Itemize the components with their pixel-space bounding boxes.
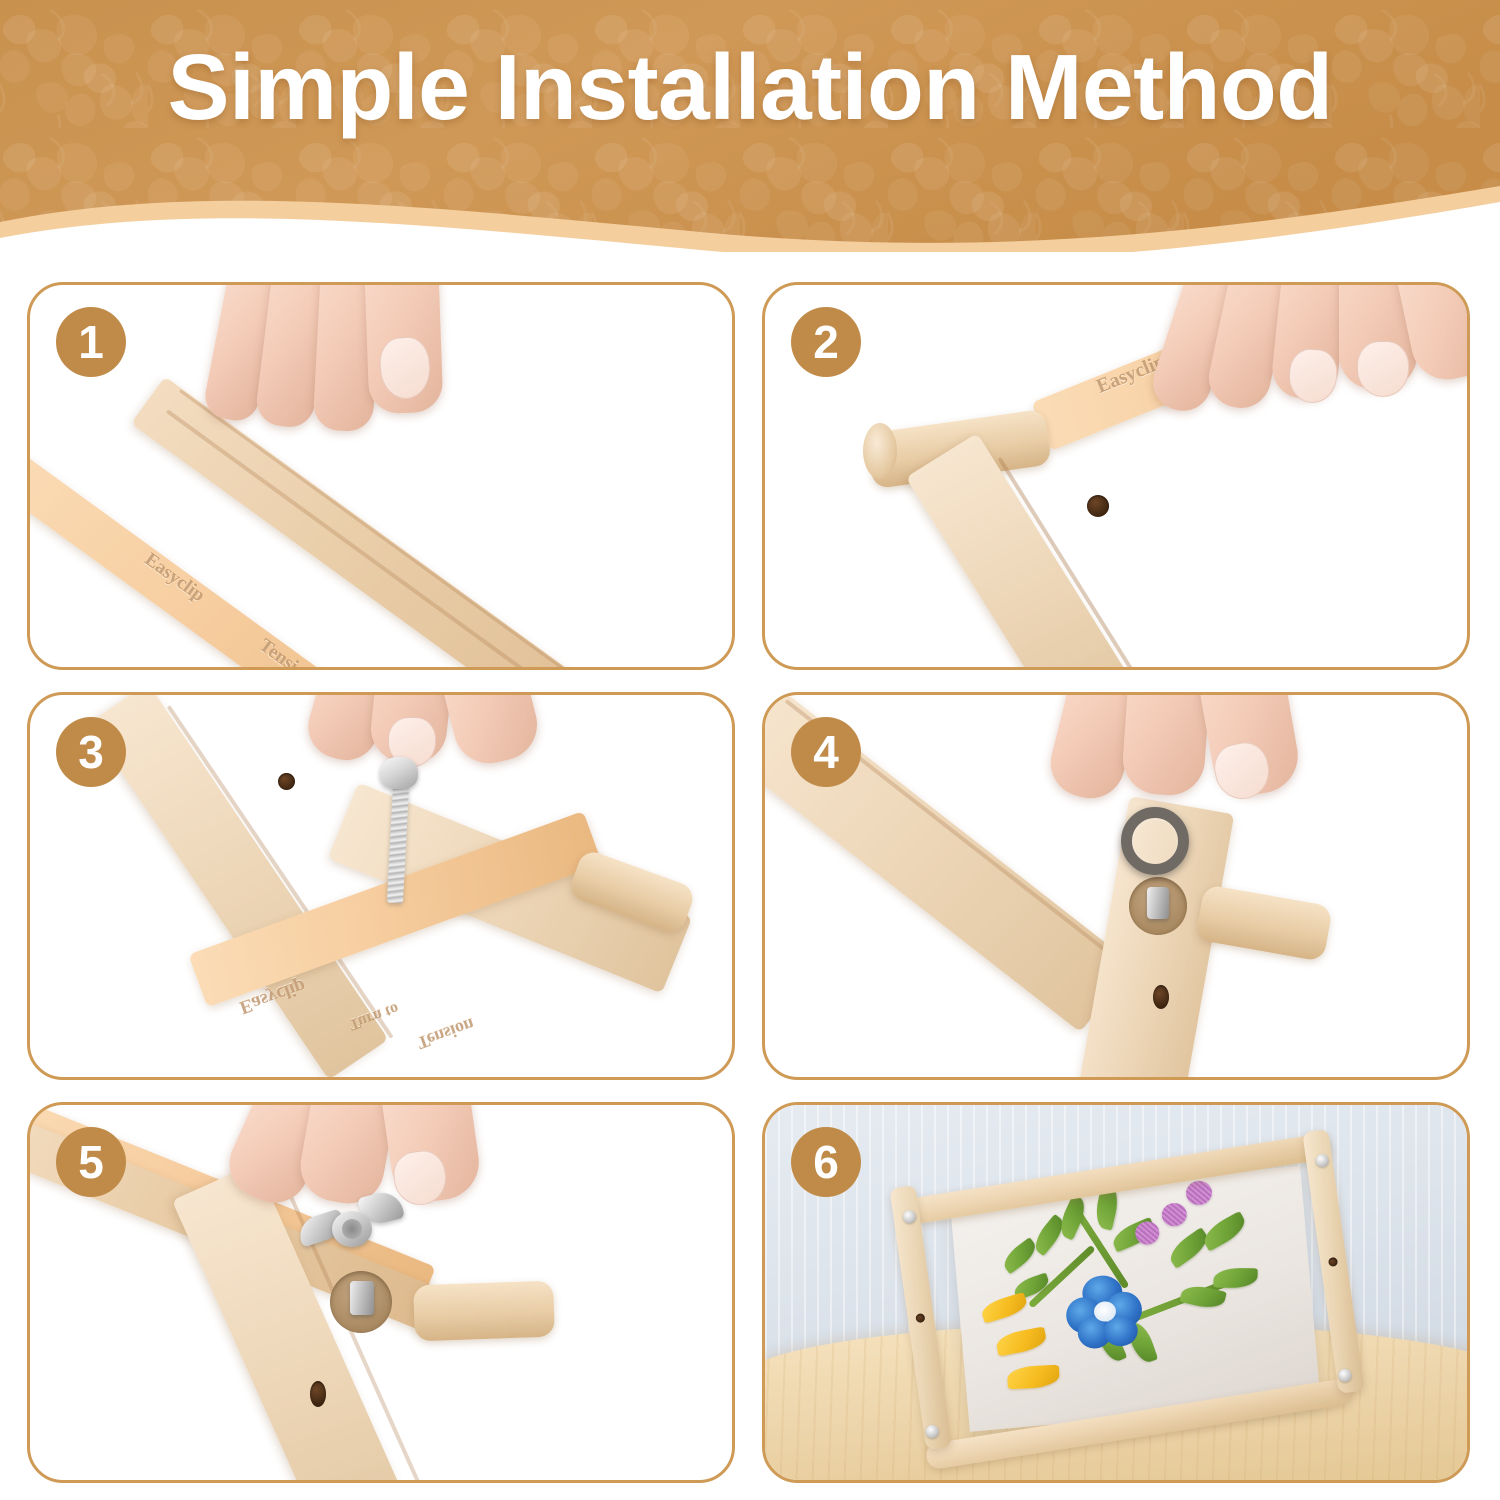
bolt-hole bbox=[310, 1381, 326, 1407]
hand bbox=[320, 692, 610, 789]
step-badge-2: 2 bbox=[791, 307, 861, 377]
step-panel-3: Easyclip Turn to Tension 3 bbox=[27, 692, 735, 1080]
bolt-stud bbox=[1147, 887, 1169, 919]
step-panel-5: 5 bbox=[27, 1102, 735, 1483]
yellow-bud bbox=[1007, 1365, 1060, 1390]
hand bbox=[1169, 282, 1470, 449]
embroidery-frame bbox=[860, 1117, 1406, 1481]
step-panel-6: 6 bbox=[762, 1102, 1470, 1483]
bolt-hole bbox=[1087, 495, 1109, 517]
header-banner: Simple Installation Method bbox=[0, 0, 1500, 252]
steps-grid: Easyclip Tension 1 Easyclip Turn to Tens… bbox=[0, 252, 1500, 1500]
step-badge-1: 1 bbox=[56, 307, 126, 377]
leaf bbox=[999, 1237, 1040, 1274]
step-2-illustration: Easyclip Turn to Tension bbox=[765, 285, 1467, 667]
hand bbox=[1063, 692, 1363, 833]
step-panel-4: 4 bbox=[762, 692, 1470, 1080]
side-bar-slotted bbox=[906, 433, 1152, 670]
hand bbox=[212, 282, 512, 469]
dowel-end bbox=[1195, 884, 1333, 962]
leaf bbox=[1199, 1211, 1249, 1252]
purple-dot bbox=[1185, 1180, 1213, 1206]
step-panel-1: Easyclip Tension 1 bbox=[27, 282, 735, 670]
leaf bbox=[1165, 1227, 1213, 1269]
leaf bbox=[1213, 1268, 1257, 1289]
yellow-bud bbox=[980, 1292, 1030, 1324]
dowel-end bbox=[413, 1281, 555, 1342]
bolt-head bbox=[380, 757, 418, 789]
bolt-hole bbox=[1153, 985, 1169, 1009]
wing-nut-hole bbox=[342, 1219, 362, 1239]
step-4-illustration bbox=[765, 695, 1467, 1077]
blue-flower bbox=[1063, 1272, 1145, 1352]
fingernail bbox=[1357, 341, 1409, 397]
yellow-bud bbox=[995, 1326, 1048, 1356]
dowel-cap bbox=[863, 423, 897, 479]
bolt-hole-upper bbox=[278, 773, 295, 790]
metal-washer bbox=[1121, 807, 1189, 875]
wing-nut bbox=[298, 1193, 408, 1259]
step-badge-5: 5 bbox=[56, 1127, 126, 1197]
bolt-stud bbox=[350, 1281, 374, 1315]
step-5-illustration bbox=[30, 1105, 732, 1480]
step-6-illustration bbox=[765, 1105, 1467, 1480]
finger bbox=[1121, 692, 1216, 798]
step-1-illustration: Easyclip Tension bbox=[30, 285, 732, 667]
step-panel-2: Easyclip Turn to Tension 2 bbox=[762, 282, 1470, 670]
page-title: Simple Installation Method bbox=[0, 34, 1500, 141]
purple-dot bbox=[1161, 1202, 1188, 1227]
step-badge-3: 3 bbox=[56, 717, 126, 787]
step-3-illustration: Easyclip Turn to Tension bbox=[30, 695, 732, 1077]
step-badge-6: 6 bbox=[791, 1127, 861, 1197]
step-badge-4: 4 bbox=[791, 717, 861, 787]
tension-engraving: Tension bbox=[414, 1013, 477, 1053]
